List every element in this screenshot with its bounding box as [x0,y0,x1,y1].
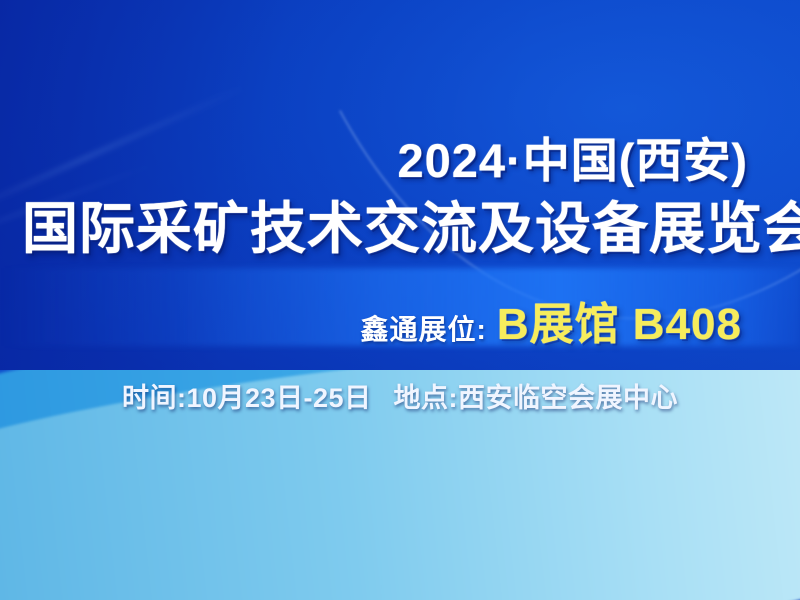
booth-label: 鑫通展位: [360,308,486,348]
poster-title-line-2: 国际采矿技术交流及设备展览会 [22,184,800,265]
poster-title-line-1: 2024·中国(西安) [397,122,748,191]
event-meta-row: 时间:10月23日-25日地点:西安临空会展中心 [0,376,800,415]
poster-content: 2024·中国(西安) 国际采矿技术交流及设备展览会 鑫通展位: B展馆 B40… [0,0,800,600]
event-venue: 地点:西安临空会展中心 [394,383,679,413]
event-date: 时间:10月23日-25日 [122,383,372,413]
booth-info-row: 鑫通展位: B展馆 B408 [360,288,742,352]
booth-number: B展馆 B408 [497,288,742,352]
exhibition-poster: 2024·中国(西安) 国际采矿技术交流及设备展览会 鑫通展位: B展馆 B40… [0,0,800,600]
